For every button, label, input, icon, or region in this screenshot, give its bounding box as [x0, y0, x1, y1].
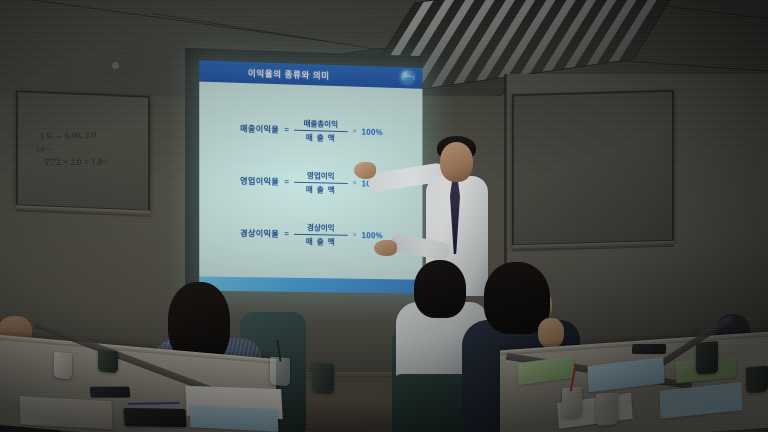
globe-icon	[401, 70, 414, 83]
fraction-numerator: 영업이익	[307, 170, 334, 183]
mobile-phone	[632, 344, 667, 354]
fraction-denominator: 매 출 액	[306, 235, 336, 248]
whiteboard-note: 1 9 → 6.06, 2.0	[40, 130, 97, 142]
coffee-cup	[746, 366, 768, 394]
attendee-hand	[538, 318, 564, 348]
presenter-left-hand	[354, 162, 376, 179]
coffee-cup	[98, 350, 118, 374]
slide-title: 이익율의 종류와 의미	[248, 67, 330, 82]
equals-sign: =	[284, 229, 289, 238]
handout-paper	[587, 357, 664, 392]
handout-paper	[660, 382, 743, 419]
fraction-numerator: 매출총이익	[304, 117, 338, 130]
fraction: 영업이익 매 출 액	[294, 169, 348, 195]
coffee-cup	[54, 352, 72, 380]
coffee-cup	[696, 341, 718, 375]
attendee-hair	[414, 260, 466, 318]
coffee-cup	[596, 392, 618, 426]
notebook	[20, 396, 113, 429]
percent-value: 100%	[362, 127, 383, 137]
fraction: 경상이익 매 출 액	[294, 221, 348, 247]
formula-label: 매출이익율	[240, 123, 279, 135]
pen	[128, 402, 180, 405]
fraction-denominator: 매 출 액	[306, 183, 336, 196]
coffee-cup	[312, 362, 334, 394]
slide-title-bar: 이익율의 종류와 의미	[199, 60, 422, 88]
mobile-phone	[90, 387, 131, 398]
formula-label: 영업이익율	[240, 175, 279, 187]
formula-row: 매출이익율 = 매출총이익 매 출 액 × 100%	[199, 105, 422, 155]
smoke-detector-icon	[112, 62, 119, 69]
fraction-numerator: 경상이익	[307, 222, 334, 235]
whiteboard-note: 5'7'2 = 2.0 = 1.8~	[44, 156, 108, 167]
handout-paper	[190, 405, 279, 432]
multiply-sign: ×	[353, 231, 357, 238]
coffee-cup	[562, 387, 582, 418]
equals-sign: =	[284, 125, 289, 134]
attendee-lower-body	[392, 374, 466, 432]
multiply-sign: ×	[353, 128, 357, 135]
calculator	[123, 408, 186, 427]
equals-sign: =	[284, 177, 289, 186]
whiteboard-left: 1 9 → 6.06, 2.0 2.0 ~ 5'7'2 = 2.0 = 1.8~	[16, 90, 150, 212]
whiteboard-note: 2.0 ~	[36, 145, 51, 153]
fraction-denominator: 매 출 액	[306, 131, 336, 144]
meeting-room-photo: 1 9 → 6.06, 2.0 2.0 ~ 5'7'2 = 2.0 = 1.8~…	[0, 0, 768, 432]
fraction: 매출총이익 매 출 액	[294, 117, 348, 143]
presenter-head	[440, 142, 473, 182]
presenter-right-hand	[374, 240, 397, 256]
multiply-sign: ×	[353, 180, 357, 187]
percent-value: 100%	[362, 231, 383, 240]
formula-label: 경상이익율	[240, 227, 279, 239]
